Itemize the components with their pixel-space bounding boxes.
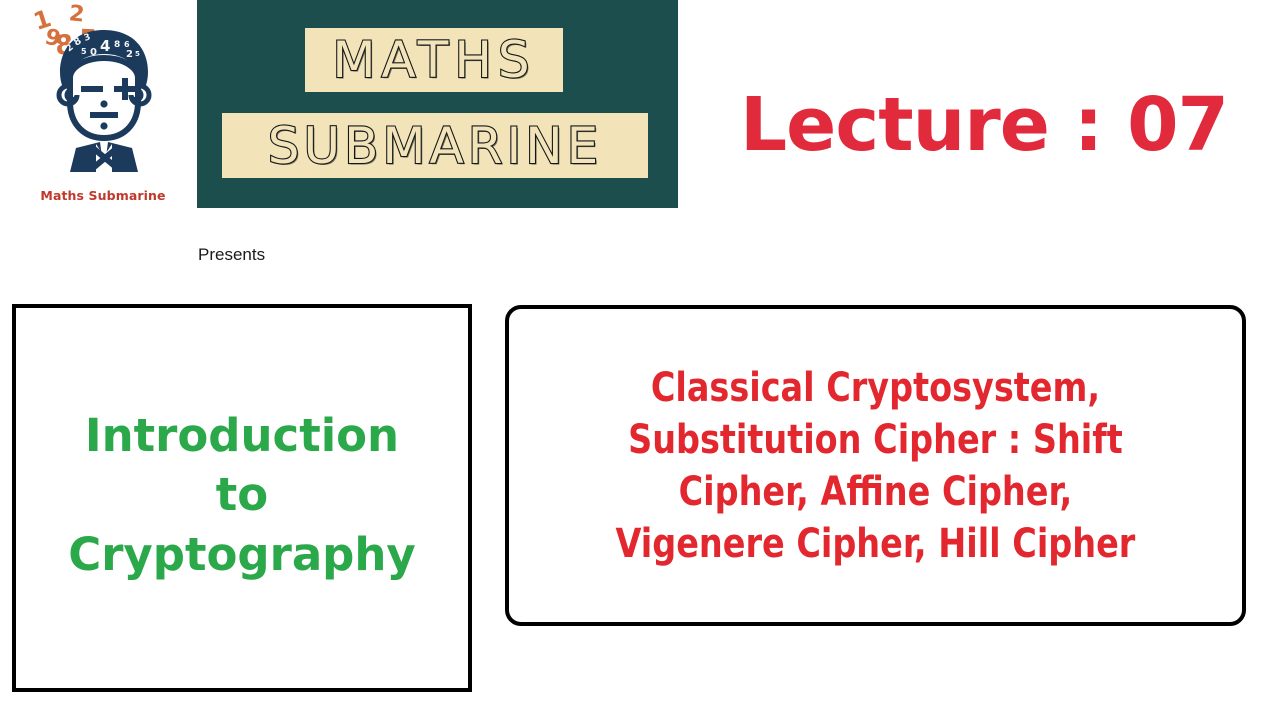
banner-tag-submarine: SUBMARINE [222, 113, 648, 178]
svg-text:5: 5 [135, 50, 140, 58]
mascot-face-icon: 2 8 3 5 0 4 8 6 2 5 [40, 24, 168, 172]
svg-text:2: 2 [126, 49, 133, 60]
presents-label: Presents [198, 245, 265, 265]
topics-box: Classical Cryptosystem, Substitution Cip… [505, 305, 1246, 626]
svg-text:4: 4 [100, 37, 110, 55]
course-title-text: Introduction to Cryptography [68, 406, 416, 584]
banner-tag-maths: MATHS [305, 28, 563, 92]
course-title-box: Introduction to Cryptography [12, 304, 472, 692]
svg-text:6: 6 [124, 40, 130, 49]
banner-word-submarine: SUBMARINE [268, 117, 602, 175]
slide-canvas: 1 2 8 9 5 2 8 3 5 0 4 8 6 2 5 [0, 0, 1280, 720]
svg-text:5: 5 [81, 47, 87, 56]
maths-submarine-banner: MATHS SUBMARINE [197, 0, 678, 208]
brand-logo: 1 2 8 9 5 2 8 3 5 0 4 8 6 2 5 [18, 2, 188, 217]
svg-text:8: 8 [114, 40, 120, 50]
banner-word-maths: MATHS [332, 31, 535, 89]
topics-text: Classical Cryptosystem, Substitution Cip… [616, 362, 1136, 570]
lecture-number-title: Lecture : 07 [740, 88, 1240, 162]
logo-caption: Maths Submarine [18, 188, 188, 203]
